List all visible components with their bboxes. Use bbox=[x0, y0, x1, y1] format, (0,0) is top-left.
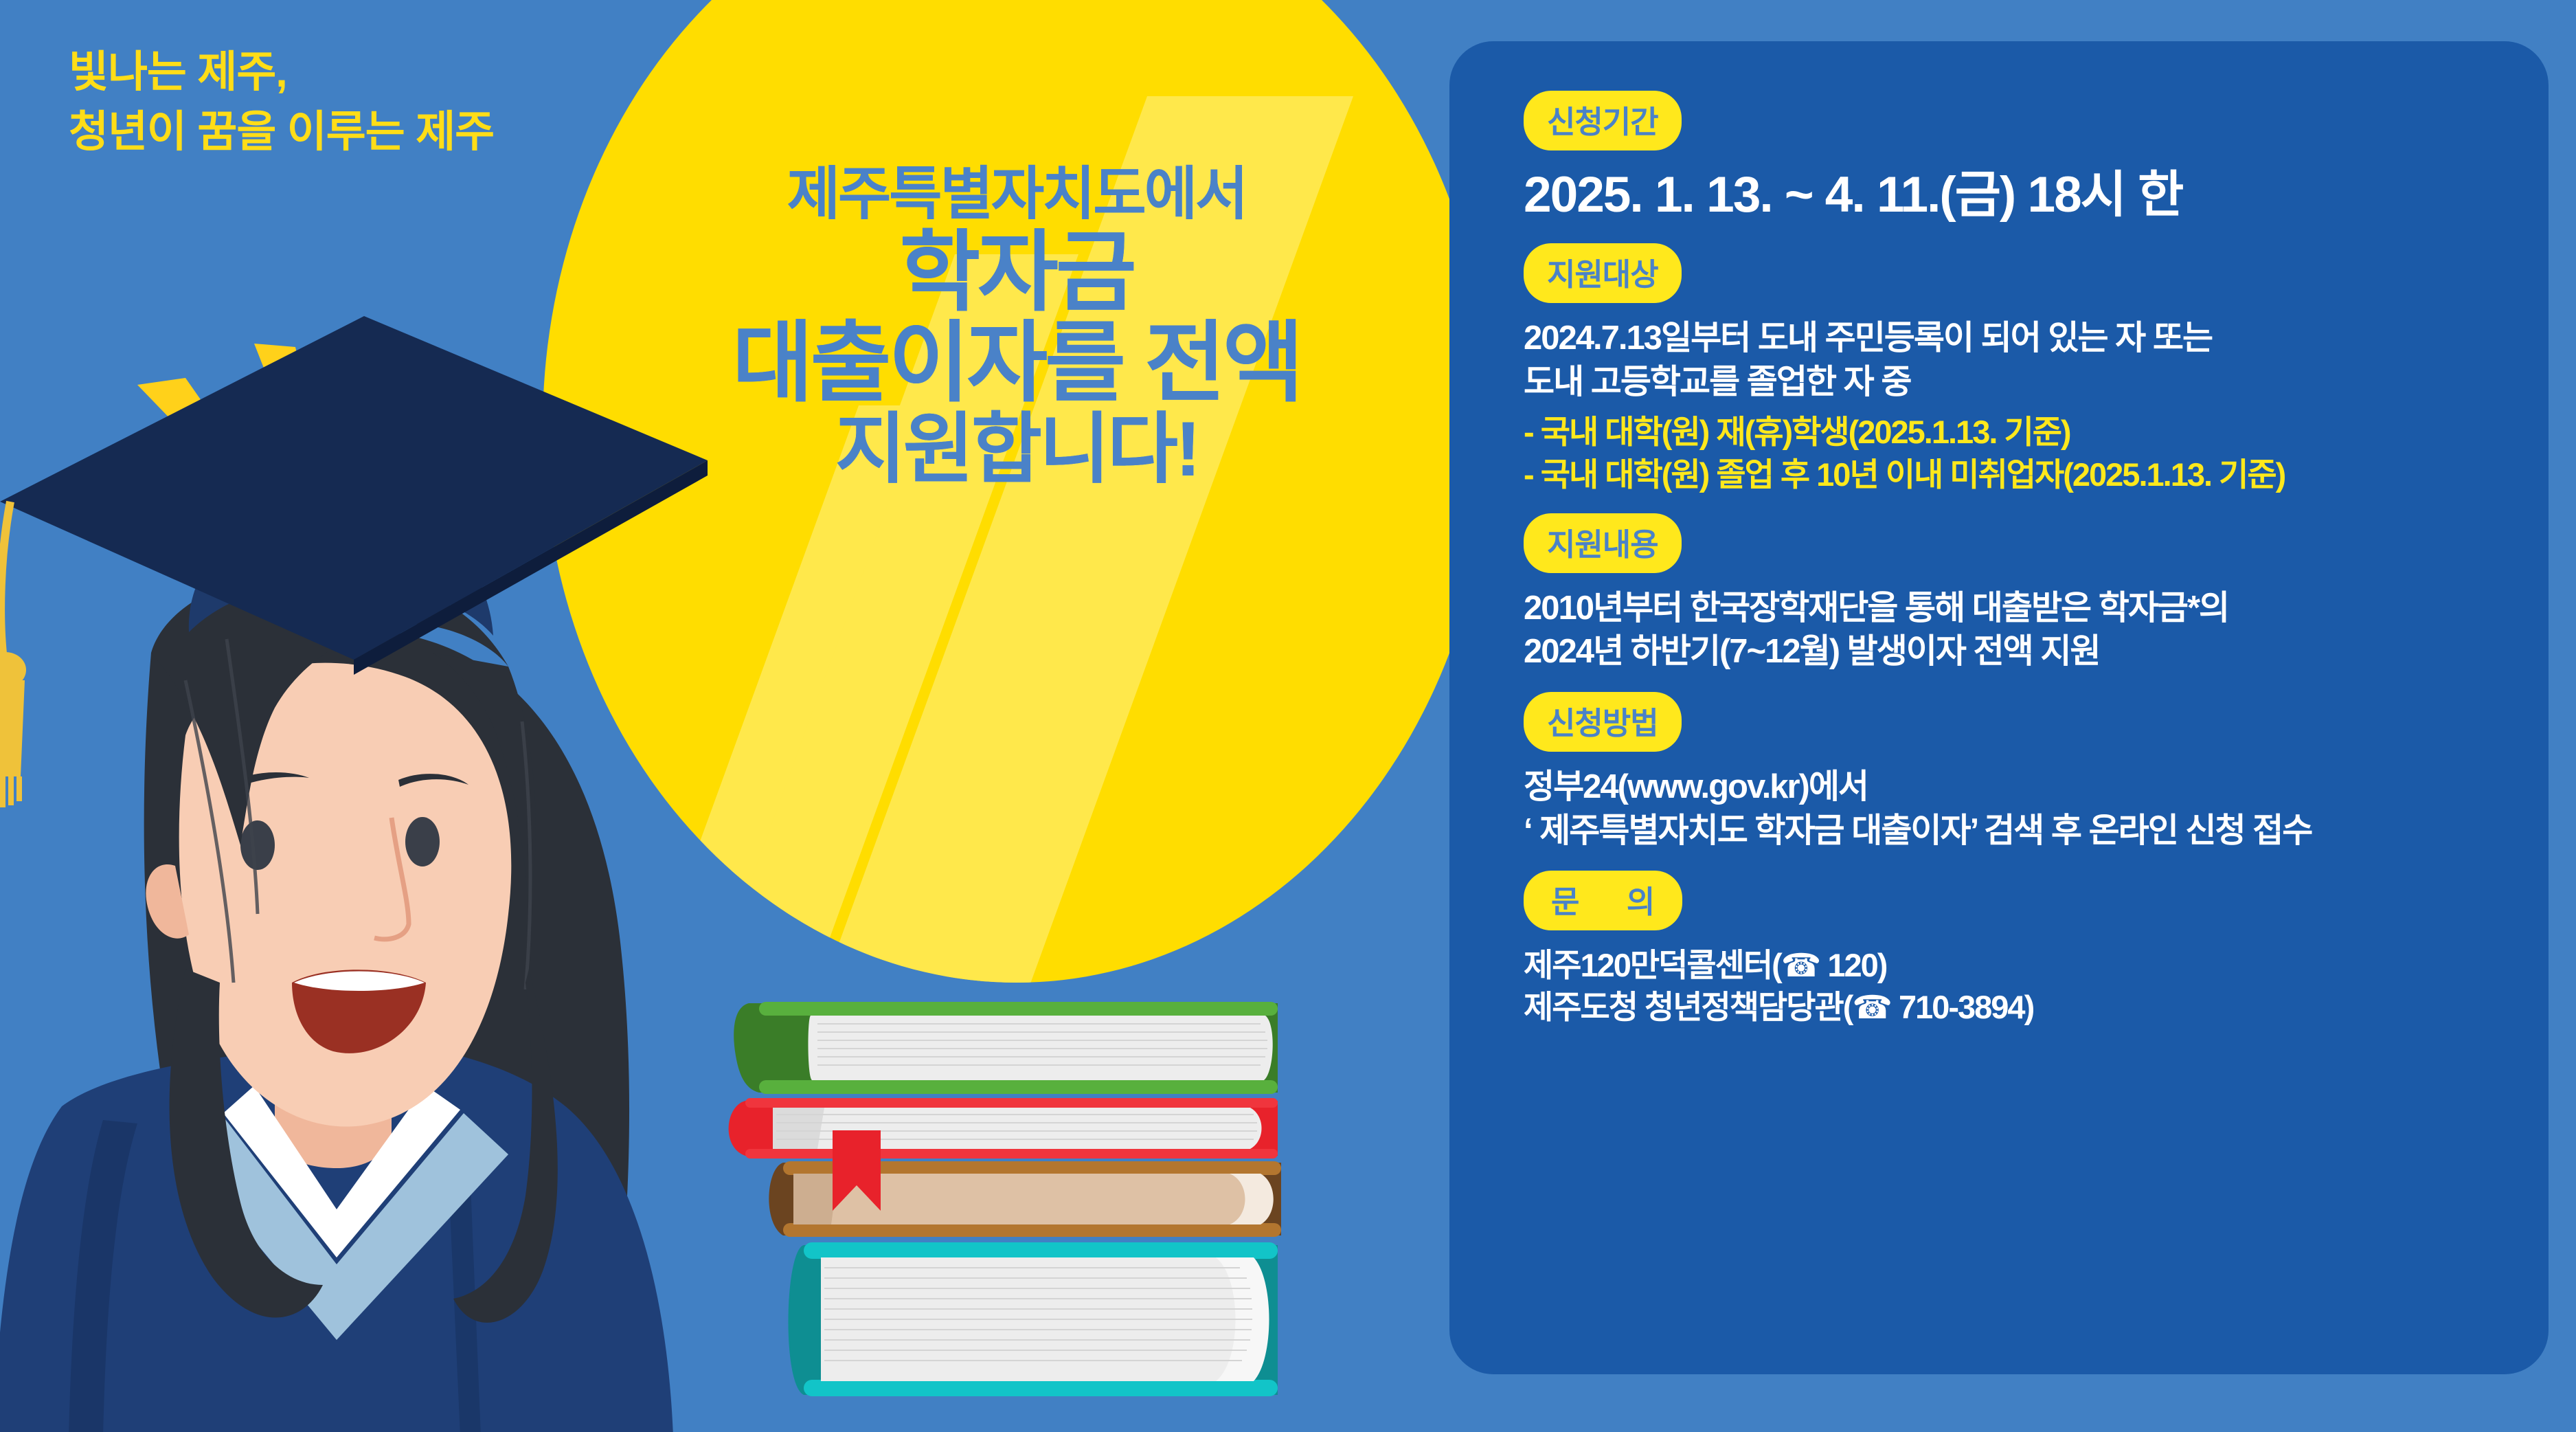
book-green bbox=[734, 1002, 1278, 1094]
info-line: 2024.7.13일부터 도내 주민등록이 되어 있는 자 또는 bbox=[1524, 317, 2549, 361]
eye-right bbox=[405, 817, 440, 866]
cap-board bbox=[0, 316, 708, 660]
info-section: 지원내용2010년부터 한국장학재단을 통해 대출받은 학자금*의2024년 하… bbox=[1524, 513, 2549, 674]
info-line: 도내 고등학교를 졸업한 자 중 bbox=[1524, 361, 2549, 405]
info-panel: 신청기간2025. 1. 13. ~ 4. 11.(금) 18시 한지원대상20… bbox=[1449, 41, 2549, 1374]
tassel-threads bbox=[0, 776, 19, 807]
book-teal bbox=[788, 1242, 1278, 1396]
info-line: 제주도청 청년정책담당관(☎ 710-3894) bbox=[1524, 986, 2549, 1028]
info-line: - 국내 대학(원) 졸업 후 10년 이내 미취업자(2025.1.13. 기… bbox=[1524, 454, 2549, 495]
book-red bbox=[729, 1098, 1278, 1159]
section-badge: 지원내용 bbox=[1524, 513, 1682, 573]
info-section: 신청방법정부24(www.gov.kr)에서‘ 제주특별자치도 학자금 대출이자… bbox=[1524, 692, 2549, 853]
info-line: 2010년부터 한국장학재단을 통해 대출받은 학자금*의 bbox=[1524, 587, 2549, 631]
spacer bbox=[1524, 404, 2549, 411]
info-line: - 국내 대학(원) 재(휴)학생(2025.1.13. 기준) bbox=[1524, 411, 2549, 453]
info-line: 정부24(www.gov.kr)에서 bbox=[1524, 765, 2549, 809]
graduate-illustration bbox=[0, 295, 804, 1432]
bubble-line-1: 제주특별자치도에서 bbox=[543, 165, 1491, 224]
info-line: ‘ 제주특별자치도 학자금 대출이자’ 검색 후 온라인 신청 접수 bbox=[1524, 809, 2549, 853]
section-badge: 문 의 bbox=[1524, 871, 1682, 930]
page-title: 빛나는 제주, 청년이 꿈을 이루는 제주 bbox=[69, 43, 494, 162]
tassel-cord bbox=[1, 502, 10, 660]
section-badge: 지원대상 bbox=[1524, 243, 1682, 303]
info-line: 2024년 하반기(7~12월) 발생이자 전액 지원 bbox=[1524, 630, 2549, 674]
tassel-fringe bbox=[0, 680, 25, 776]
section-badge: 신청기간 bbox=[1524, 91, 1682, 150]
book-stack bbox=[708, 976, 1312, 1432]
eye-left bbox=[240, 820, 275, 870]
poster-canvas: 빛나는 제주, 청년이 꿈을 이루는 제주 제주특별자치도에서 학자금 대출이자… bbox=[0, 0, 2576, 1432]
info-line: 2025. 1. 13. ~ 4. 11.(금) 18시 한 bbox=[1524, 164, 2549, 225]
info-section: 문 의제주120만덕콜센터(☎ 120)제주도청 청년정책담당관(☎ 710-3… bbox=[1524, 871, 2549, 1028]
info-section: 신청기간2025. 1. 13. ~ 4. 11.(금) 18시 한 bbox=[1524, 91, 2549, 225]
panel-sections: 신청기간2025. 1. 13. ~ 4. 11.(금) 18시 한지원대상20… bbox=[1524, 91, 2549, 1029]
info-section: 지원대상2024.7.13일부터 도내 주민등록이 되어 있는 자 또는도내 고… bbox=[1524, 243, 2549, 495]
info-line: 제주120만덕콜센터(☎ 120) bbox=[1524, 944, 2549, 986]
section-badge: 신청방법 bbox=[1524, 692, 1682, 752]
